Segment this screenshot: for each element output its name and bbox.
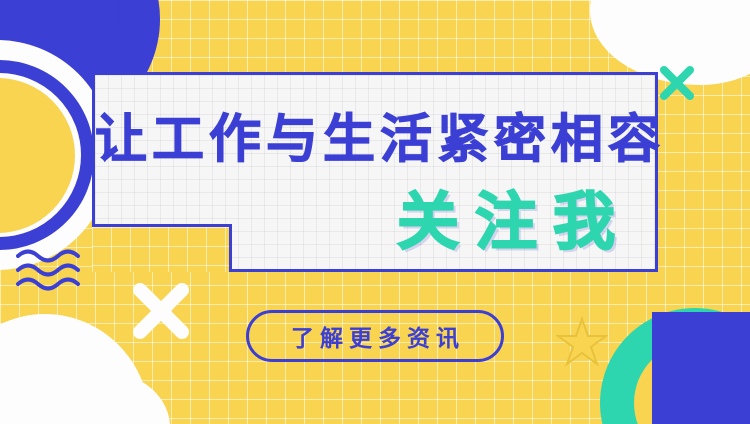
- x-mark-teal-icon: [658, 64, 696, 102]
- learn-more-button-label: 了解更多资讯: [285, 319, 465, 353]
- x-mark-white-icon: [130, 280, 192, 342]
- headline-card: 让工作与生活紧密相容 关注我: [92, 72, 658, 272]
- star-yellow-icon: [556, 316, 608, 368]
- block-blue-bottom-right-icon: [652, 312, 750, 424]
- learn-more-button[interactable]: 了解更多资讯: [246, 310, 504, 362]
- wave-lines-blue-icon: [16, 248, 86, 292]
- promo-banner: 让工作与生活紧密相容 关注我 了解更多资讯: [0, 0, 750, 424]
- subheadline-text: 关注我: [397, 171, 631, 261]
- headline-text: 让工作与生活紧密相容: [95, 97, 655, 172]
- headline-card-notch-grid: [92, 227, 229, 272]
- headline-card-notch: [92, 224, 232, 272]
